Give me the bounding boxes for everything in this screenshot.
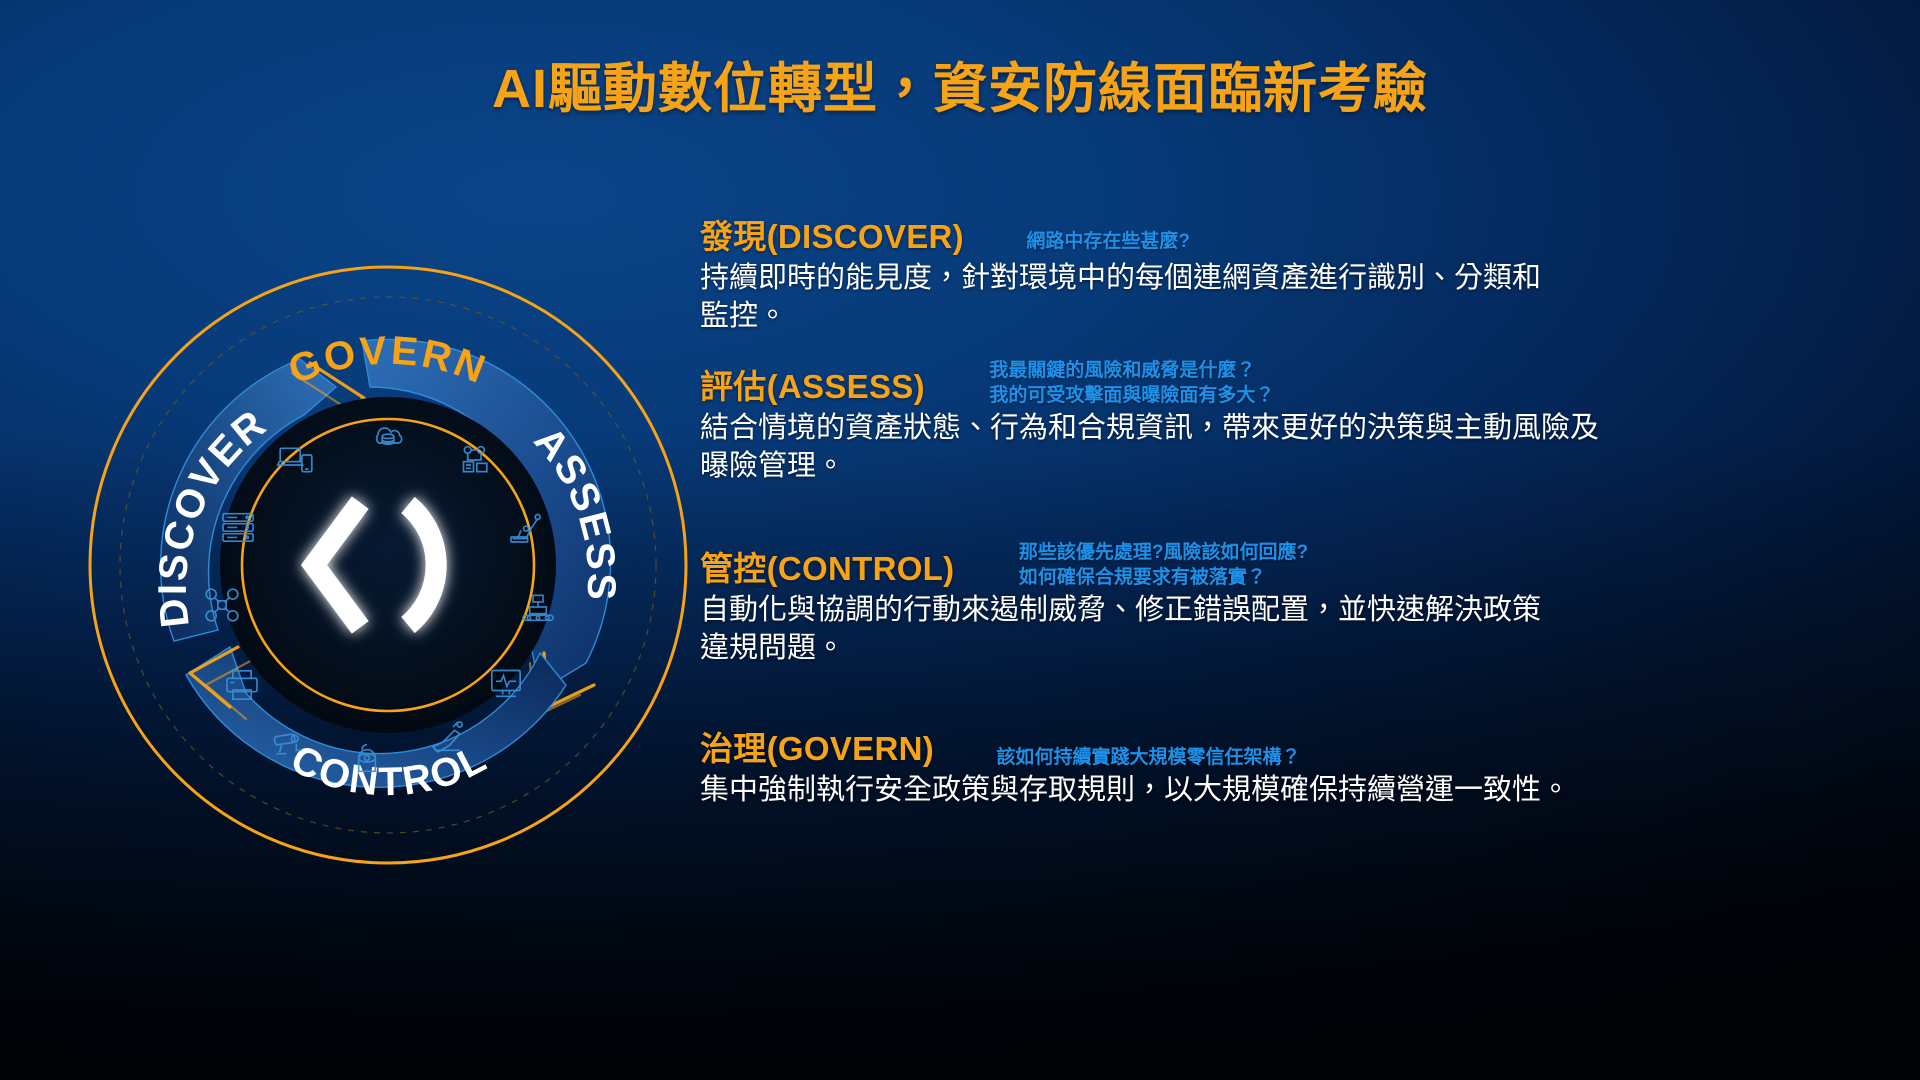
mri-scanner-icon (347, 738, 387, 778)
laptop-mobile-icon (276, 440, 316, 480)
device-icon-ring (78, 255, 698, 875)
section-assess-body: 結合情境的資產狀態、行為和合規資訊，帶來更好的決策與主動風險及 曝險管理。 (700, 409, 1880, 486)
conveyor-belt-icon (518, 587, 558, 627)
robotic-arm-icon (506, 507, 546, 547)
section-control-head: 管控(CONTROL) 那些該優先處理?風險該如何回應? 如何確保合規要求有被落… (700, 540, 1880, 590)
section-govern-heading: 治理(GOVERN) (700, 722, 934, 770)
section-govern-questions: 該如何持續實踐大規模零信任架構？ (996, 745, 1300, 770)
medical-chair-icon (428, 717, 468, 757)
section-discover-questions: 網路中存在些甚麼? (1026, 229, 1190, 254)
section-assess: 評估(ASSESS) 我最關鍵的風險和威脅是什麼？ 我的可受攻擊面與曝險面有多大… (700, 358, 1880, 486)
section-discover: 發現(DISCOVER) 網路中存在些甚麼? 持續即時的能見度，針對環境中的每個… (700, 210, 1880, 336)
section-discover-head: 發現(DISCOVER) 網路中存在些甚麼? (700, 210, 1880, 258)
section-assess-head: 評估(ASSESS) 我最關鍵的風險和威脅是什麼？ 我的可受攻擊面與曝險面有多大… (700, 358, 1880, 408)
drone-icon (202, 585, 242, 625)
question-line: 網路中存在些甚麼? (1026, 229, 1190, 254)
section-control: 管控(CONTROL) 那些該優先處理?風險該如何回應? 如何確保合規要求有被落… (700, 540, 1880, 668)
cloud-database-icon (368, 418, 408, 458)
patient-monitor-icon (486, 663, 526, 703)
printer-icon (222, 665, 262, 705)
server-rack-icon (218, 507, 258, 547)
question-line: 該如何持續實踐大規模零信任架構？ (996, 745, 1300, 770)
section-govern-head: 治理(GOVERN) 該如何持續實踐大規模零信任架構？ (700, 722, 1880, 770)
section-govern: 治理(GOVERN) 該如何持續實踐大規模零信任架構？ 集中強制執行安全政策與存… (700, 722, 1880, 809)
section-assess-heading: 評估(ASSESS) (700, 360, 925, 408)
security-camera-icon (268, 722, 308, 762)
question-line: 那些該優先處理?風險該如何回應? (1019, 540, 1308, 565)
section-control-heading: 管控(CONTROL) (700, 542, 954, 590)
section-discover-body: 持續即時的能見度，針對環境中的每個連網資產進行識別、分類和 監控。 (700, 259, 1880, 336)
section-discover-heading: 發現(DISCOVER) (700, 210, 964, 258)
section-control-questions: 那些該優先處理?風險該如何回應? 如何確保合規要求有被落實？ (1019, 540, 1308, 590)
section-assess-questions: 我最關鍵的風險和威脅是什麼？ 我的可受攻擊面與曝險面有多大？ (989, 358, 1274, 408)
question-line: 我的可受攻擊面與曝險面有多大？ (989, 383, 1274, 408)
factory-robot-icon (456, 440, 496, 480)
question-line: 我最關鍵的風險和威脅是什麼？ (989, 358, 1274, 383)
section-control-body: 自動化與協調的行動來遏制威脅、修正錯誤配置，並快速解決政策 違規問題。 (700, 591, 1880, 668)
section-govern-body: 集中強制執行安全政策與存取規則，以大規模確保持續營運一致性。 (700, 771, 1880, 809)
lifecycle-wheel-diagram: GOVERN DISCOVER ASSESS CONTROL (78, 255, 698, 875)
page-title: AI驅動數位轉型，資安防線面臨新考驗 (0, 44, 1920, 123)
question-line: 如何確保合規要求有被落實？ (1019, 565, 1308, 590)
